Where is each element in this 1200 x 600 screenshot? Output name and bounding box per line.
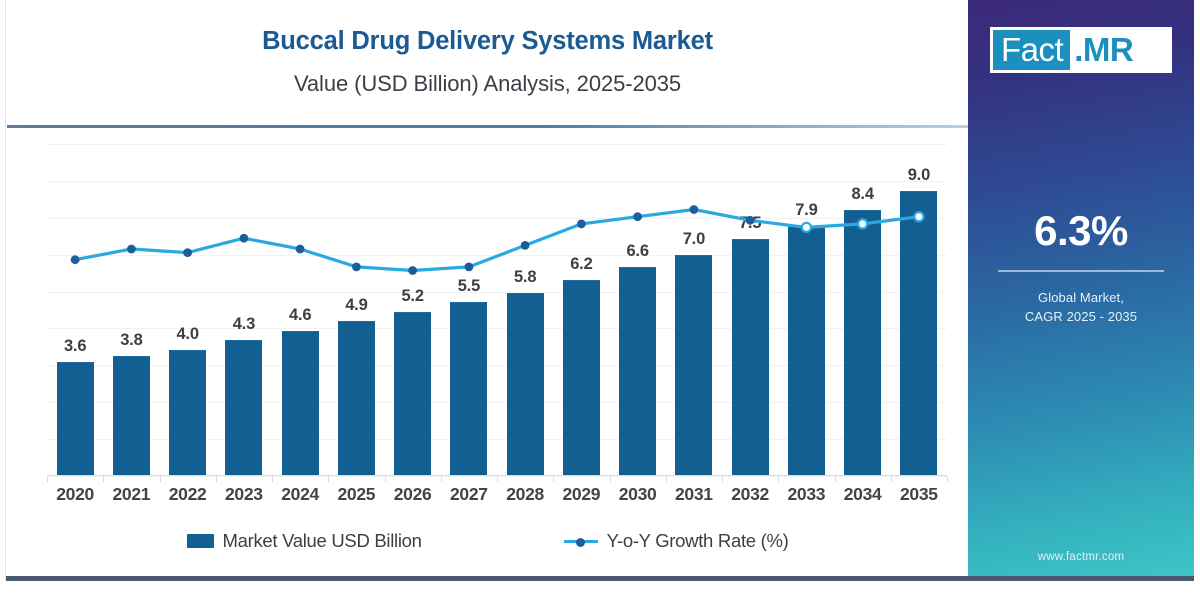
bar-value-label: 5.5 (458, 277, 480, 296)
brand-sidebar: Fact .MR 6.3% Global Market, CAGR 2025 -… (968, 0, 1194, 577)
x-axis-label: 2028 (497, 484, 553, 505)
x-axis-label: 2021 (103, 484, 159, 505)
bar[interactable] (900, 191, 937, 476)
legend-item-market-value[interactable]: Market Value USD Billion (187, 530, 422, 552)
bar-column[interactable]: 3.8 (113, 144, 150, 476)
bar-value-label: 3.6 (64, 337, 86, 356)
bar[interactable] (338, 321, 375, 476)
factmr-logo[interactable]: Fact .MR (990, 27, 1172, 73)
bar-value-label: 4.3 (233, 315, 255, 334)
cagr-value: 6.3% (968, 207, 1194, 255)
x-axis-labels: 2020202120222023202420252026202720282029… (47, 484, 947, 510)
bar-value-label: 8.4 (851, 185, 873, 204)
bar-column[interactable]: 6.2 (563, 144, 600, 476)
x-axis-tick (778, 476, 779, 482)
bar[interactable] (169, 350, 206, 476)
logo-mr-text: .MR (1070, 30, 1133, 70)
bar-value-label: 6.2 (570, 255, 592, 274)
logo-fact-text: Fact (993, 30, 1070, 70)
plot-area: 3.63.84.04.34.64.95.25.55.86.26.67.07.57… (47, 144, 947, 476)
bar-value-label: 9.0 (908, 166, 930, 185)
bar[interactable] (507, 293, 544, 476)
bar-column[interactable]: 5.5 (450, 144, 487, 476)
x-axis-tick (272, 476, 273, 482)
x-axis-label: 2033 (778, 484, 834, 505)
x-axis-label: 2022 (160, 484, 216, 505)
x-axis-tick (722, 476, 723, 482)
x-axis-label: 2035 (891, 484, 947, 505)
bar-value-label: 5.2 (401, 287, 423, 306)
bar-value-label: 7.0 (683, 230, 705, 249)
x-axis-label: 2024 (272, 484, 328, 505)
site-url[interactable]: www.factmr.com (968, 551, 1194, 563)
bar-series: 3.63.84.04.34.64.95.25.55.86.26.67.07.57… (47, 144, 947, 476)
bar[interactable] (675, 255, 712, 476)
bar[interactable] (394, 312, 431, 476)
legend-label-market-value: Market Value USD Billion (223, 530, 422, 552)
x-axis-label: 2025 (328, 484, 384, 505)
bar-column[interactable]: 8.4 (844, 144, 881, 476)
x-axis-tick (160, 476, 161, 482)
bar-swatch-icon (187, 534, 214, 548)
bar-value-label: 4.0 (176, 325, 198, 344)
bar-column[interactable]: 4.6 (282, 144, 319, 476)
legend-label-growth-rate: Y-o-Y Growth Rate (%) (607, 530, 789, 552)
bar[interactable] (282, 331, 319, 476)
bar[interactable] (844, 210, 881, 476)
bar-column[interactable]: 6.6 (619, 144, 656, 476)
bar[interactable] (113, 356, 150, 476)
legend-item-growth-rate[interactable]: Y-o-Y Growth Rate (%) (564, 530, 789, 552)
chart-infographic: Buccal Drug Delivery Systems Market Valu… (0, 0, 1200, 600)
x-axis-tick (947, 476, 948, 482)
x-axis-tick (103, 476, 104, 482)
bar-column[interactable]: 7.0 (675, 144, 712, 476)
page-subtitle: Value (USD Billion) Analysis, 2025-2035 (7, 71, 968, 97)
x-axis-tick (328, 476, 329, 482)
x-axis-tick (666, 476, 667, 482)
bar-value-label: 7.9 (795, 201, 817, 220)
cagr-divider (998, 270, 1164, 272)
bar-value-label: 4.9 (345, 296, 367, 315)
cagr-caption-line-1: Global Market, (968, 288, 1194, 307)
x-axis-tick (385, 476, 386, 482)
x-axis-label: 2029 (553, 484, 609, 505)
bar[interactable] (788, 226, 825, 476)
bar[interactable] (450, 302, 487, 476)
bar-column[interactable]: 7.9 (788, 144, 825, 476)
x-axis-label: 2032 (722, 484, 778, 505)
bar[interactable] (563, 280, 600, 476)
cagr-caption-line-2: CAGR 2025 - 2035 (968, 307, 1194, 326)
bar-value-label: 5.8 (514, 268, 536, 287)
x-axis-label: 2027 (441, 484, 497, 505)
chart-legend: Market Value USD Billion Y-o-Y Growth Ra… (7, 524, 968, 558)
bar-value-label: 6.6 (626, 242, 648, 261)
cagr-caption: Global Market, CAGR 2025 - 2035 (968, 288, 1194, 326)
header-divider (7, 125, 968, 128)
bar[interactable] (619, 267, 656, 476)
frame-left-edge (0, 0, 6, 583)
bar-value-label: 7.5 (739, 214, 761, 233)
bottom-margin (0, 581, 1200, 600)
x-axis-tick (610, 476, 611, 482)
x-axis-label: 2034 (835, 484, 891, 505)
bar-column[interactable]: 5.8 (507, 144, 544, 476)
bar-column[interactable]: 9.0 (900, 144, 937, 476)
bar-column[interactable]: 7.5 (732, 144, 769, 476)
x-axis-label: 2030 (610, 484, 666, 505)
x-axis-tick (441, 476, 442, 482)
bar-column[interactable]: 5.2 (394, 144, 431, 476)
x-axis-label: 2023 (216, 484, 272, 505)
x-axis-label: 2026 (385, 484, 441, 505)
x-axis-label: 2020 (47, 484, 103, 505)
bar[interactable] (225, 340, 262, 476)
x-axis-tick (891, 476, 892, 482)
x-axis-tick (835, 476, 836, 482)
page-title: Buccal Drug Delivery Systems Market (7, 27, 968, 56)
bar-column[interactable]: 4.3 (225, 144, 262, 476)
bar-column[interactable]: 4.9 (338, 144, 375, 476)
x-axis-tick (216, 476, 217, 482)
chart-panel: Buccal Drug Delivery Systems Market Valu… (7, 0, 968, 577)
x-axis-tick (47, 476, 48, 482)
bar[interactable] (732, 239, 769, 476)
bar-column[interactable]: 4.0 (169, 144, 206, 476)
chart-header: Buccal Drug Delivery Systems Market Valu… (7, 0, 968, 127)
bar[interactable] (57, 362, 94, 476)
x-axis-tick (553, 476, 554, 482)
line-marker-swatch-icon (564, 534, 598, 548)
x-axis-label: 2031 (666, 484, 722, 505)
bar-value-label: 3.8 (120, 331, 142, 350)
x-axis-tick (497, 476, 498, 482)
bar-value-label: 4.6 (289, 306, 311, 325)
bar-column[interactable]: 3.6 (57, 144, 94, 476)
